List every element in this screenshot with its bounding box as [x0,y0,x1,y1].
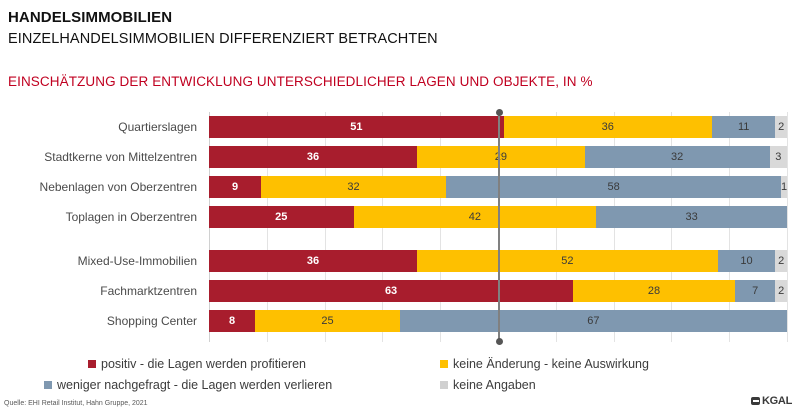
legend-swatch-icon [440,360,448,368]
bar-segment: 33 [596,206,787,228]
bar-segment: 29 [417,146,585,168]
bar-segment: 67 [400,310,787,332]
legend-label: weniger nachgefragt - die Lagen werden v… [57,378,332,392]
stacked-bar-chart: 5136112362932393258125423336521026328728… [209,112,787,342]
bar-segment: 36 [504,116,712,138]
bar-segment: 11 [712,116,776,138]
bar-segment: 2 [775,280,787,302]
legend-label: positiv - die Lagen werden profitieren [101,357,306,371]
reference-line [498,112,500,342]
category-label: Quartierslagen [118,116,197,138]
category-axis-labels: QuartierslagenStadtkerne von Mittelzentr… [0,112,203,342]
bar-segment: 9 [209,176,261,198]
bar-segment: 36 [209,250,417,272]
bar-segment: 32 [261,176,446,198]
legend-swatch-icon [88,360,96,368]
bar-segment: 8 [209,310,255,332]
bar-segment: 2 [775,250,787,272]
kgal-mark-icon [751,397,760,405]
chart-heading: EINSCHÄTZUNG DER ENTWICKLUNG UNTERSCHIED… [8,74,593,89]
bar-segment: 42 [354,206,597,228]
legend-item[interactable]: positiv - die Lagen werden profitieren [88,357,306,371]
source-note: Quelle: EHI Retail Institut, Hahn Gruppe… [4,400,148,407]
category-label: Mixed-Use-Immobilien [78,250,197,272]
bar-segment: 10 [718,250,776,272]
category-label: Stadtkerne von Mittelzentren [44,146,197,168]
kgal-logo: KGAL [751,395,792,407]
gridline [787,112,788,342]
bar-segment: 25 [209,206,354,228]
bar-segment: 52 [417,250,718,272]
legend-swatch-icon [440,381,448,389]
chart-page: HANDELSIMMOBILIEN EINZELHANDELSIMMOBILIE… [0,0,800,414]
kgal-logo-text: KGAL [762,395,792,407]
reference-line-dot-bot [496,338,503,345]
chart-legend: positiv - die Lagen werden profitierenke… [0,357,800,399]
bar-segment: 32 [585,146,770,168]
category-label: Shopping Center [107,310,197,332]
page-title: HANDELSIMMOBILIEN [8,9,172,26]
legend-swatch-icon [44,381,52,389]
bar-segment: 58 [446,176,781,198]
bar-segment: 25 [255,310,400,332]
legend-label: keine Änderung - keine Auswirkung [453,357,649,371]
category-label: Toplagen in Oberzentren [66,206,197,228]
category-label: Fachmarktzentren [100,280,197,302]
bar-segment: 1 [781,176,787,198]
reference-line-dot-top [496,109,503,116]
bar-segment: 51 [209,116,504,138]
bar-segment: 3 [770,146,787,168]
legend-label: keine Angaben [453,378,536,392]
legend-item[interactable]: weniger nachgefragt - die Lagen werden v… [44,378,332,392]
page-subtitle: EINZELHANDELSIMMOBILIEN DIFFERENZIERT BE… [8,31,438,47]
category-label: Nebenlagen von Oberzentren [40,176,197,198]
legend-item[interactable]: keine Angaben [440,378,536,392]
bar-segment: 36 [209,146,417,168]
legend-item[interactable]: keine Änderung - keine Auswirkung [440,357,649,371]
bar-segment: 63 [209,280,573,302]
bar-segment: 7 [735,280,775,302]
bar-segment: 2 [775,116,787,138]
bar-segment: 28 [573,280,735,302]
